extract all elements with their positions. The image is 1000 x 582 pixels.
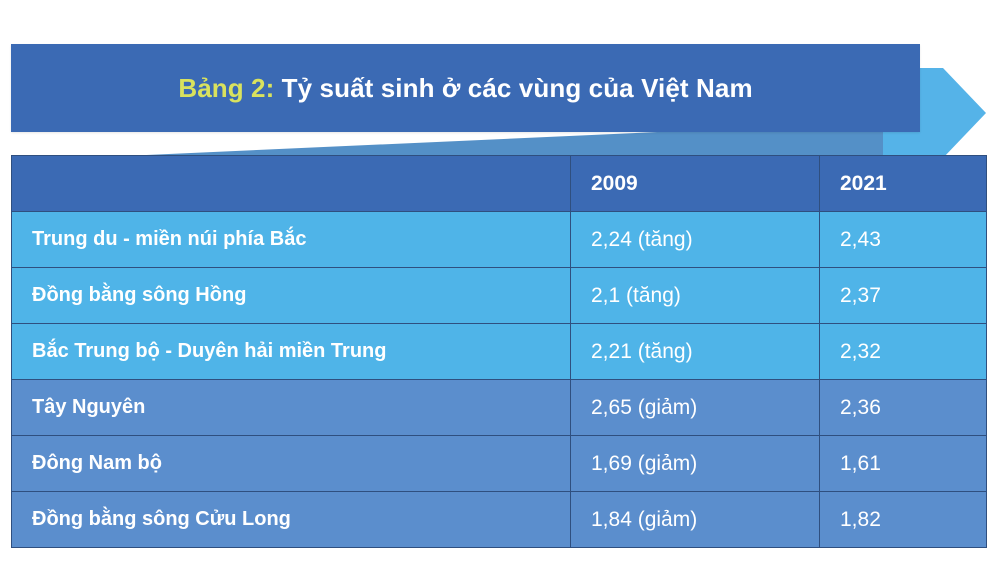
- title-prefix: Bảng 2:: [178, 73, 274, 103]
- page-title: Bảng 2: Tỷ suất sinh ở các vùng của Việt…: [178, 74, 752, 103]
- column-header-2009: 2009: [571, 156, 820, 212]
- cell-2021: 1,82: [820, 492, 987, 548]
- cell-2021: 1,61: [820, 436, 987, 492]
- slide-canvas: Bảng 2: Tỷ suất sinh ở các vùng của Việt…: [0, 0, 1000, 582]
- cell-2021: 2,37: [820, 268, 987, 324]
- cell-2009: 2,24 (tăng): [571, 212, 820, 268]
- cell-region: Đồng bằng sông Hồng: [12, 268, 571, 324]
- cell-2009: 1,84 (giảm): [571, 492, 820, 548]
- table-row: Đông Nam bộ 1,69 (giảm) 1,61: [12, 436, 987, 492]
- cell-region: Đồng bằng sông Cửu Long: [12, 492, 571, 548]
- table-row: Đồng bằng sông Hồng 2,1 (tăng) 2,37: [12, 268, 987, 324]
- column-header-2021: 2021: [820, 156, 987, 212]
- banner-title-bar: Bảng 2: Tỷ suất sinh ở các vùng của Việt…: [11, 44, 920, 132]
- title-main: Tỷ suất sinh ở các vùng của Việt Nam: [274, 73, 752, 103]
- fertility-rate-table: 2009 2021 Trung du - miền núi phía Bắc 2…: [11, 155, 987, 548]
- table-row: Bắc Trung bộ - Duyên hải miền Trung 2,21…: [12, 324, 987, 380]
- cell-2021: 2,36: [820, 380, 987, 436]
- column-header-region: [12, 156, 571, 212]
- cell-2021: 2,43: [820, 212, 987, 268]
- table-row: Đồng bằng sông Cửu Long 1,84 (giảm) 1,82: [12, 492, 987, 548]
- cell-region: Bắc Trung bộ - Duyên hải miền Trung: [12, 324, 571, 380]
- cell-region: Đông Nam bộ: [12, 436, 571, 492]
- cell-2009: 2,1 (tăng): [571, 268, 820, 324]
- cell-2021: 2,32: [820, 324, 987, 380]
- cell-region: Tây Nguyên: [12, 380, 571, 436]
- cell-2009: 1,69 (giảm): [571, 436, 820, 492]
- table-row: Trung du - miền núi phía Bắc 2,24 (tăng)…: [12, 212, 987, 268]
- table-row: Tây Nguyên 2,65 (giảm) 2,36: [12, 380, 987, 436]
- cell-2009: 2,65 (giảm): [571, 380, 820, 436]
- cell-2009: 2,21 (tăng): [571, 324, 820, 380]
- table-body: Trung du - miền núi phía Bắc 2,24 (tăng)…: [12, 212, 987, 548]
- cell-region: Trung du - miền núi phía Bắc: [12, 212, 571, 268]
- table-header: 2009 2021: [12, 156, 987, 212]
- table-header-row: 2009 2021: [12, 156, 987, 212]
